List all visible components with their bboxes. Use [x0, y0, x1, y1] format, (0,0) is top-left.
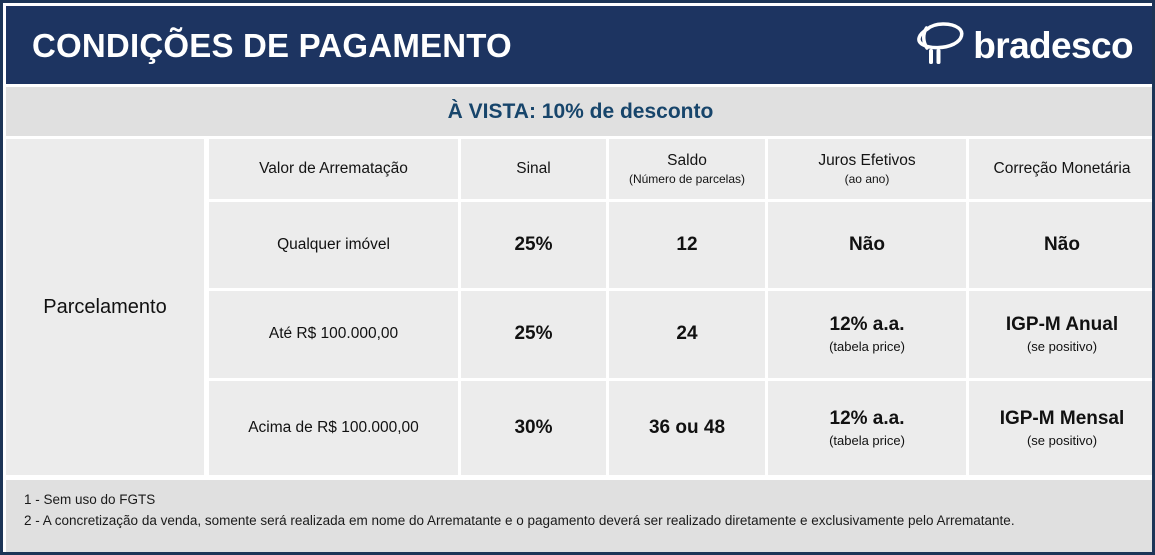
- table-row: 25%: [461, 291, 606, 378]
- cell-saldo: 36 ou 48: [649, 417, 725, 440]
- conditions-table: Parcelamento Valor de Arrematação Sinal …: [6, 139, 1155, 475]
- table-row: 12% a.a. (tabela price): [768, 381, 966, 475]
- cell-valor: Qualquer imóvel: [277, 236, 390, 255]
- table-row: Acima de R$ 100.000,00: [209, 381, 458, 475]
- column-header-valor: Valor de Arrematação: [209, 139, 458, 199]
- table-row: 30%: [461, 381, 606, 475]
- footnote-2: 2 - A concretização da venda, somente se…: [24, 511, 1155, 532]
- cash-discount-band: À VISTA: 10% de desconto: [6, 87, 1155, 136]
- table-row: Qualquer imóvel: [209, 202, 458, 288]
- row-group-label: Parcelamento: [43, 296, 166, 319]
- column-header-juros-subtitle: (ao ano): [845, 172, 890, 186]
- column-header-sinal-title: Sinal: [516, 160, 550, 179]
- column-header-saldo: Saldo (Número de parcelas): [609, 139, 765, 199]
- cell-saldo: 12: [676, 234, 697, 257]
- cell-correcao: IGP-M Mensal: [1000, 408, 1125, 431]
- column-header-valor-title: Valor de Arrematação: [259, 160, 408, 179]
- table-row: 25%: [461, 202, 606, 288]
- cell-juros-note: (tabela price): [829, 339, 905, 355]
- bradesco-tree-logo-icon: [912, 21, 966, 69]
- cell-juros: 12% a.a.: [830, 314, 905, 337]
- table-row: IGP-M Mensal (se positivo): [969, 381, 1155, 475]
- column-header-sinal: Sinal: [461, 139, 606, 199]
- table-row: 24: [609, 291, 765, 378]
- cell-correcao-note: (se positivo): [1027, 433, 1097, 449]
- cell-correcao: Não: [1044, 234, 1080, 257]
- footnotes: 1 - Sem uso do FGTS 2 - A concretização …: [6, 480, 1155, 555]
- column-header-saldo-title: Saldo: [667, 152, 707, 171]
- column-header-saldo-subtitle: (Número de parcelas): [629, 172, 745, 186]
- table-row: 12: [609, 202, 765, 288]
- cell-sinal: 30%: [514, 417, 552, 440]
- cell-juros: 12% a.a.: [830, 408, 905, 431]
- page-title: CONDIÇÕES DE PAGAMENTO: [32, 29, 512, 62]
- table-row: Até R$ 100.000,00: [209, 291, 458, 378]
- column-header-juros-title: Juros Efetivos: [818, 152, 915, 171]
- cell-juros-note: (tabela price): [829, 433, 905, 449]
- column-header-juros: Juros Efetivos (ao ano): [768, 139, 966, 199]
- cell-correcao: IGP-M Anual: [1006, 314, 1118, 337]
- cell-correcao-note: (se positivo): [1027, 339, 1097, 355]
- cell-valor: Até R$ 100.000,00: [269, 325, 398, 344]
- table-row: Não: [768, 202, 966, 288]
- bradesco-logo: bradesco: [912, 21, 1133, 69]
- table-row: 36 ou 48: [609, 381, 765, 475]
- card-header: CONDIÇÕES DE PAGAMENTO bradesco: [6, 6, 1155, 84]
- brand-name: bradesco: [973, 27, 1133, 64]
- cell-sinal: 25%: [514, 234, 552, 257]
- cell-juros: Não: [849, 234, 885, 257]
- footnote-1: 1 - Sem uso do FGTS: [24, 490, 1155, 511]
- column-header-correcao: Correção Monetária: [969, 139, 1155, 199]
- cell-saldo: 24: [676, 323, 697, 346]
- column-header-correcao-title: Correção Monetária: [994, 160, 1131, 179]
- row-group-label-cell: Parcelamento: [6, 139, 204, 475]
- payment-conditions-card: CONDIÇÕES DE PAGAMENTO bradesco À VISTA:…: [0, 0, 1155, 555]
- cell-valor: Acima de R$ 100.000,00: [248, 419, 419, 438]
- cell-sinal: 25%: [514, 323, 552, 346]
- table-row: Não: [969, 202, 1155, 288]
- table-row: 12% a.a. (tabela price): [768, 291, 966, 378]
- table-row: IGP-M Anual (se positivo): [969, 291, 1155, 378]
- cash-discount-text: À VISTA: 10% de desconto: [448, 101, 714, 122]
